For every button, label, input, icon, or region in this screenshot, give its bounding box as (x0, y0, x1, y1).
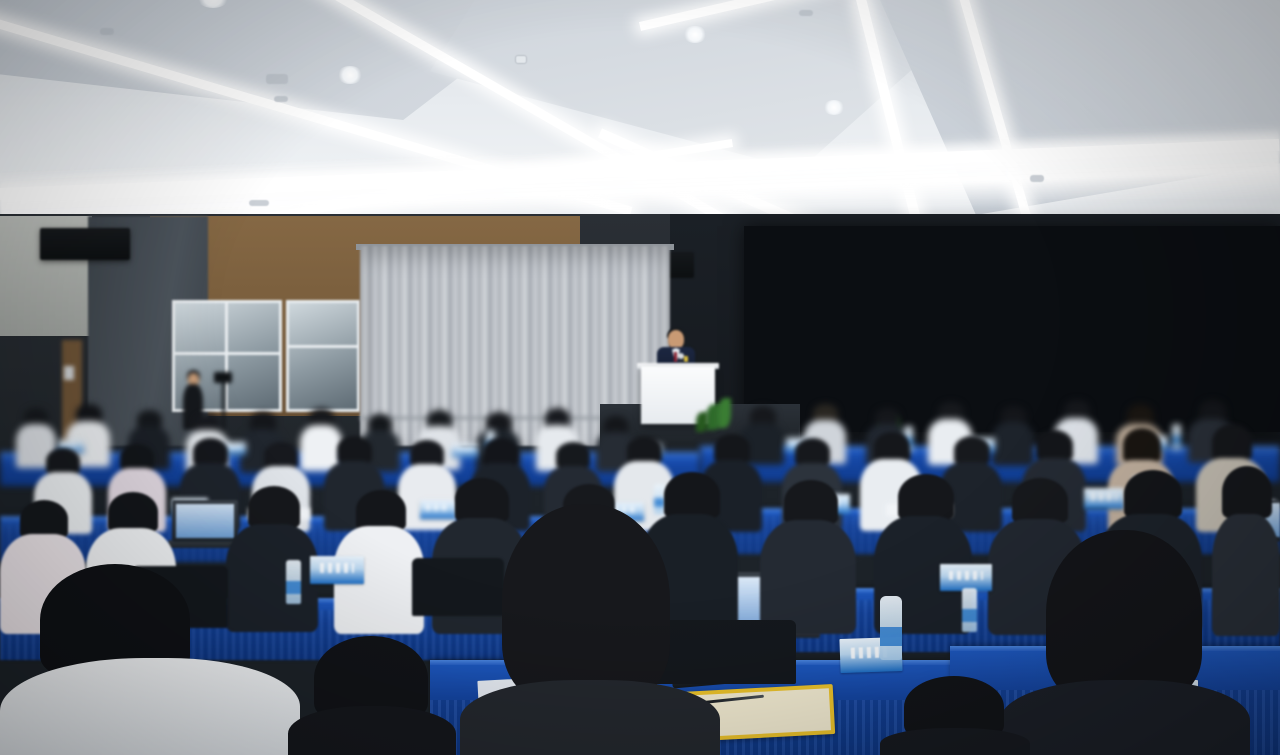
ceiling-vent (799, 10, 813, 16)
ceiling-vent (274, 96, 288, 102)
ceiling-vent (249, 200, 269, 206)
microphone-head (678, 353, 684, 359)
name-card (310, 556, 364, 584)
ceiling-vent (100, 28, 114, 35)
ceiling-downlight (337, 66, 363, 84)
audience-member-foreground (460, 504, 720, 755)
window (286, 300, 360, 412)
presenter-tie (674, 352, 677, 362)
stage-plant (718, 398, 731, 428)
audience-member (760, 480, 856, 630)
ceiling-vent (1030, 175, 1044, 182)
audience-member-foreground (1000, 530, 1250, 755)
audience-member-foreground (288, 636, 456, 755)
stage-plant (696, 412, 708, 432)
ceiling-downlight (823, 100, 845, 115)
audience-member-foreground (0, 600, 300, 755)
conference-hall-photo: ENERGY STORAGE SYSTEM ENERGY STORAGE SYS… (0, 0, 1280, 755)
loudspeaker (40, 228, 130, 260)
audience-member-foreground (880, 676, 1030, 755)
water-bottle (962, 588, 977, 632)
ceiling-sprinkler (515, 55, 527, 64)
door-plate (64, 366, 74, 380)
ceiling-vent (266, 74, 288, 84)
name-card (940, 564, 992, 591)
water-bottle (286, 560, 301, 604)
water-bottle (880, 596, 902, 660)
ceiling-downlight (683, 26, 707, 43)
presenter-badge (684, 356, 688, 362)
video-camera (214, 372, 232, 383)
ceiling (0, 0, 1280, 250)
